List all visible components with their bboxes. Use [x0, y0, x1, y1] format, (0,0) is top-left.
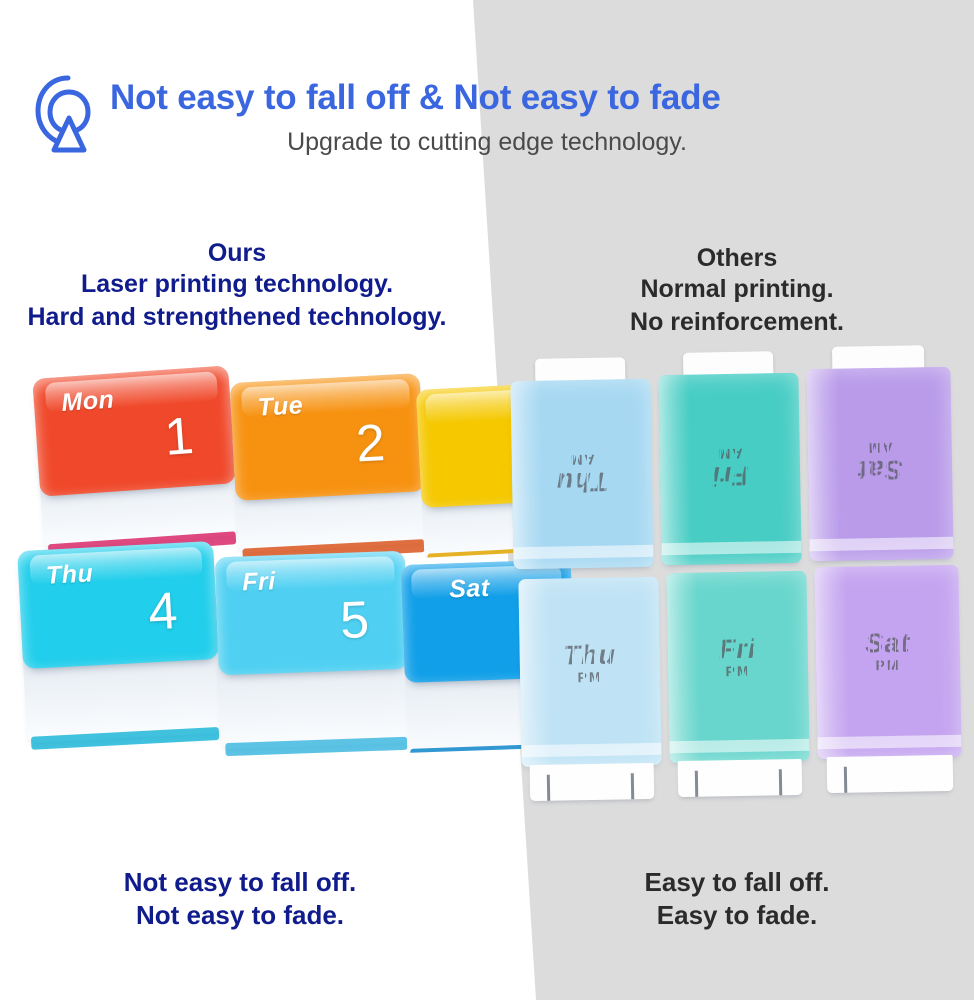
ours-caption-line-1: Not easy to fall off.: [0, 866, 480, 899]
pill-cell-tue: Tue 2: [230, 373, 429, 553]
cell-print-label: Sat PM: [815, 627, 960, 675]
cell-band: [521, 743, 661, 757]
pill-cell-sat-pm: Sat PM: [814, 565, 961, 759]
others-caption-block: Easy to fall off. Easy to fade.: [500, 866, 974, 932]
ours-caption-line-2: Not easy to fade.: [0, 899, 480, 932]
cell-day-label: Mon: [61, 385, 116, 418]
others-product-photo: Thu AM Fri AM Sat: [500, 350, 974, 850]
cell-hinge: [695, 771, 698, 797]
cell-lid: Mon 1: [32, 365, 236, 496]
cell-period-label: PM: [816, 656, 960, 675]
pill-cell-thu-am: Thu AM: [510, 379, 653, 569]
comparison-infographic: Not easy to fall off & Not easy to fade …: [0, 0, 974, 1000]
cell-period-label: PM: [520, 668, 660, 686]
cell-band: [809, 537, 953, 552]
cell-day-label: Fri: [242, 567, 276, 597]
cell-hinge: [631, 773, 634, 799]
pill-cell-sat-am: Sat AM: [806, 367, 953, 561]
cell-day-label: Thu: [45, 559, 94, 590]
cell-print-label: Thu PM: [519, 639, 660, 686]
cell-lid: Tue 2: [230, 373, 426, 501]
cell-band: [817, 735, 961, 750]
cell-number-label: 5: [339, 595, 370, 648]
cell-hinge: [779, 769, 782, 795]
others-title: Others: [500, 243, 974, 273]
pill-cell-mon: Mon 1: [32, 365, 239, 548]
cell-number-label: 4: [147, 585, 179, 638]
others-heading-block: Others Normal printing. No reinforcement…: [500, 243, 974, 339]
ours-product-photo: Mon 1 Tue 2 Wed 3: [0, 350, 520, 850]
header: Not easy to fall off & Not easy to fade …: [0, 0, 974, 200]
cell-day-label: Sat: [808, 453, 953, 487]
page-subtitle: Upgrade to cutting edge technology.: [0, 128, 974, 157]
ours-title: Ours: [0, 238, 474, 268]
cell-print-label: Fri PM: [667, 633, 808, 680]
cell-hinge: [547, 775, 550, 801]
pill-cell-fri: Fri 5: [215, 551, 412, 748]
pill-cell-fri-pm: Fri PM: [666, 571, 809, 763]
cell-lid: Thu 4: [17, 541, 219, 669]
pill-cell-thu: Thu 4: [17, 541, 223, 741]
cell-day-label: Thu: [512, 465, 653, 498]
ours-subtitle-line-1: Laser printing technology.: [0, 268, 474, 301]
pill-cell-fri-am: Fri AM: [658, 373, 801, 565]
cell-band: [669, 739, 809, 753]
cell-day-label: Sat: [449, 574, 490, 604]
cell-print-label: Sat AM: [808, 439, 953, 487]
ours-caption-block: Not easy to fall off. Not easy to fade.: [0, 866, 480, 932]
ours-heading-block: Ours Laser printing technology. Hard and…: [0, 238, 474, 334]
ours-subtitle-line-2: Hard and strengthened technology.: [0, 301, 474, 334]
cell-print-label: Thu AM: [512, 451, 653, 498]
others-subtitle-line-1: Normal printing.: [500, 273, 974, 306]
others-caption-line-1: Easy to fall off.: [500, 866, 974, 899]
cell-period-label: AM: [512, 451, 652, 469]
cell-print-label: Fri AM: [660, 445, 801, 492]
cell-day-label: Tue: [257, 391, 304, 422]
cell-period-label: AM: [660, 445, 800, 463]
product-comparison-photos: Mon 1 Tue 2 Wed 3: [0, 350, 974, 860]
page-title: Not easy to fall off & Not easy to fade: [110, 78, 900, 118]
others-caption-line-2: Easy to fade.: [500, 899, 974, 932]
others-subtitle-line-2: No reinforcement.: [500, 306, 974, 339]
cell-band: [661, 541, 801, 555]
cell-hinge: [844, 767, 847, 793]
cell-number-label: 1: [163, 410, 195, 464]
cell-lid: Fri 5: [215, 551, 409, 676]
cell-band: [513, 545, 653, 559]
cell-period-label: PM: [668, 662, 808, 680]
pill-cell-thu-pm: Thu PM: [518, 577, 661, 767]
cell-day-label: Fri: [660, 459, 801, 492]
cell-number-label: 2: [355, 418, 387, 471]
cell-period-label: AM: [808, 439, 952, 458]
